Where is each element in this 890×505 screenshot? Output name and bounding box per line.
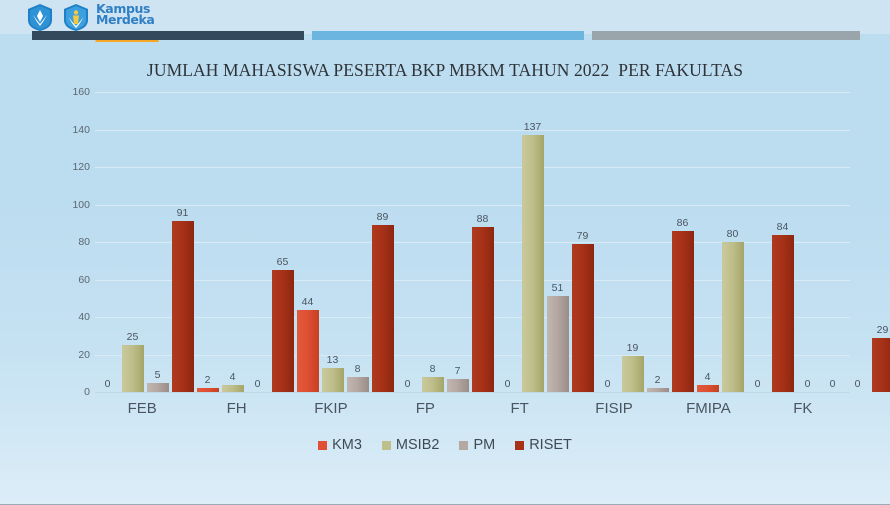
bar[interactable]: 80 <box>722 242 744 392</box>
bar-value-label: 13 <box>327 354 339 366</box>
bar-value-label: 0 <box>855 378 861 390</box>
bar-slot[interactable]: 0 <box>247 92 269 392</box>
chart-legend: KM3MSIB2PMRISET <box>0 437 890 453</box>
bar-slot[interactable]: 84 <box>772 92 794 392</box>
y-axis-tick-label: 0 <box>50 386 90 398</box>
bar-slot[interactable]: 91 <box>172 92 194 392</box>
legend-label: PM <box>473 437 495 453</box>
x-axis-category-label: FMIPA <box>661 394 755 417</box>
plot-area: 0255912406544138890878801375179019286480… <box>95 92 850 392</box>
x-axis-category-label: FEB <box>95 394 189 417</box>
bar-group: 480084 <box>695 92 795 392</box>
bar-slot[interactable]: 0 <box>822 92 844 392</box>
bar-value-label: 80 <box>727 228 739 240</box>
bar-slot[interactable]: 25 <box>122 92 144 392</box>
bar-group: 01375179 <box>495 92 595 392</box>
bar[interactable]: 89 <box>372 225 394 392</box>
legend-swatch-icon <box>515 441 524 450</box>
bar-value-label: 86 <box>677 217 689 229</box>
bar-slot[interactable]: 8 <box>422 92 444 392</box>
x-axis: FEBFHFKIPFPFTFISIPFMIPAFK <box>95 394 850 417</box>
bar-value-label: 0 <box>105 378 111 390</box>
bar-slot[interactable]: 44 <box>297 92 319 392</box>
bar-slot[interactable]: 65 <box>272 92 294 392</box>
y-axis-tick-label: 60 <box>50 274 90 286</box>
progress-bar-dark <box>32 31 304 40</box>
y-axis-tick-label: 160 <box>50 86 90 98</box>
bar-slot[interactable]: 86 <box>672 92 694 392</box>
bar-slot[interactable]: 13 <box>322 92 344 392</box>
slide-canvas: Kampus Merdeka INDONESIA JAYA JUMLAH MAH… <box>0 0 890 505</box>
x-axis-category-label: FKIP <box>284 394 378 417</box>
bar-slot[interactable]: 8 <box>347 92 369 392</box>
bar-value-label: 29 <box>877 324 889 336</box>
bar-value-label: 65 <box>277 256 289 268</box>
bar-value-label: 137 <box>524 121 542 133</box>
bar-slot[interactable]: 7 <box>447 92 469 392</box>
bar-value-label: 0 <box>830 378 836 390</box>
bar-value-label: 51 <box>552 282 564 294</box>
bar-value-label: 4 <box>230 371 236 383</box>
bar-slot[interactable]: 4 <box>222 92 244 392</box>
bar-value-label: 0 <box>755 378 761 390</box>
bar-value-label: 19 <box>627 342 639 354</box>
bar-value-label: 5 <box>155 369 161 381</box>
bar-value-label: 7 <box>455 365 461 377</box>
bar[interactable]: 79 <box>572 244 594 392</box>
bar-slot[interactable]: 2 <box>197 92 219 392</box>
legend-item[interactable]: PM <box>459 437 495 453</box>
chart-area: 020406080100120140160 025591240654413889… <box>40 92 850 432</box>
bar-group: 00029 <box>795 92 890 392</box>
bar-value-label: 84 <box>777 221 789 233</box>
bar-value-label: 8 <box>430 363 436 375</box>
bar[interactable]: 8 <box>422 377 444 392</box>
y-axis-tick-label: 80 <box>50 236 90 248</box>
x-axis-category-label: FK <box>756 394 850 417</box>
bar-slot[interactable]: 29 <box>872 92 890 392</box>
x-axis-category-label: FH <box>189 394 283 417</box>
bar-value-label: 0 <box>805 378 811 390</box>
bar-slot[interactable]: 0 <box>597 92 619 392</box>
bar-value-label: 0 <box>605 378 611 390</box>
bar[interactable]: 2 <box>647 388 669 392</box>
bar-slot[interactable]: 80 <box>722 92 744 392</box>
bar-value-label: 0 <box>255 378 261 390</box>
bar[interactable]: 8 <box>347 377 369 392</box>
progress-bar-gray <box>592 31 860 40</box>
bar-slot[interactable]: 0 <box>797 92 819 392</box>
bar-group: 24065 <box>195 92 295 392</box>
bar-group: 4413889 <box>295 92 395 392</box>
y-axis-tick-label: 20 <box>50 349 90 361</box>
chart-title: JUMLAH MAHASISWA PESERTA BKP MBKM TAHUN … <box>0 60 890 81</box>
x-axis-category-label: FISIP <box>567 394 661 417</box>
bar-group: 08788 <box>395 92 495 392</box>
legend-label: KM3 <box>332 437 362 453</box>
bar-value-label: 91 <box>177 207 189 219</box>
bar-value-label: 79 <box>577 230 589 242</box>
bar[interactable]: 44 <box>297 310 319 393</box>
bar-group: 019286 <box>595 92 695 392</box>
bar[interactable]: 7 <box>447 379 469 392</box>
brand-line-2: Merdeka <box>96 14 164 27</box>
legend-label: RISET <box>529 437 572 453</box>
bar-group: 025591 <box>95 92 195 392</box>
bar-groups: 0255912406544138890878801375179019286480… <box>95 92 850 392</box>
bar-slot[interactable]: 19 <box>622 92 644 392</box>
bar[interactable]: 4 <box>697 385 719 393</box>
bar-value-label: 88 <box>477 213 489 225</box>
bar-value-label: 8 <box>355 363 361 375</box>
y-axis-tick-label: 100 <box>50 199 90 211</box>
legend-swatch-icon <box>459 441 468 450</box>
kemdikbud-logo-icon <box>26 3 54 32</box>
bar-slot[interactable]: 88 <box>472 92 494 392</box>
bar-slot[interactable]: 5 <box>147 92 169 392</box>
legend-swatch-icon <box>382 441 391 450</box>
bar-slot[interactable]: 89 <box>372 92 394 392</box>
bar-value-label: 25 <box>127 331 139 343</box>
y-axis-tick-label: 120 <box>50 161 90 173</box>
y-axis-tick-label: 140 <box>50 124 90 136</box>
legend-label: MSIB2 <box>396 437 440 453</box>
legend-item[interactable]: MSIB2 <box>382 437 440 453</box>
x-axis-category-label: FT <box>473 394 567 417</box>
bar-slot[interactable]: 137 <box>522 92 544 392</box>
bar-value-label: 2 <box>205 374 211 386</box>
bar[interactable]: 25 <box>122 345 144 392</box>
legend-item[interactable]: RISET <box>515 437 572 453</box>
bar[interactable]: 91 <box>172 221 194 392</box>
bar-value-label: 44 <box>302 296 314 308</box>
x-axis-category-label: FP <box>378 394 472 417</box>
bar-slot[interactable]: 51 <box>547 92 569 392</box>
bar-value-label: 0 <box>405 378 411 390</box>
y-axis: 020406080100120140160 <box>40 92 90 392</box>
bar[interactable]: 88 <box>472 227 494 392</box>
bar-value-label: 89 <box>377 211 389 223</box>
bar-slot[interactable]: 0 <box>847 92 869 392</box>
bar[interactable]: 19 <box>622 356 644 392</box>
bar[interactable]: 29 <box>872 338 890 392</box>
kampus-merdeka-shield-icon <box>62 3 90 32</box>
bar[interactable]: 86 <box>672 231 694 392</box>
bar-slot[interactable]: 0 <box>97 92 119 392</box>
bar-value-label: 2 <box>655 374 661 386</box>
header-logo-bar: Kampus Merdeka INDONESIA JAYA <box>0 0 890 34</box>
bar-slot[interactable]: 0 <box>397 92 419 392</box>
bar-slot[interactable]: 2 <box>647 92 669 392</box>
y-axis-tick-label: 40 <box>50 311 90 323</box>
bar-value-label: 0 <box>505 378 511 390</box>
bar-value-label: 4 <box>705 371 711 383</box>
bar-slot[interactable]: 0 <box>747 92 769 392</box>
gridline <box>95 392 850 393</box>
legend-swatch-icon <box>318 441 327 450</box>
bar[interactable]: 137 <box>522 135 544 392</box>
progress-bar-blue <box>312 31 584 40</box>
legend-item[interactable]: KM3 <box>318 437 362 453</box>
bar[interactable]: 4 <box>222 385 244 393</box>
bar-slot[interactable]: 0 <box>497 92 519 392</box>
bar[interactable]: 84 <box>772 235 794 393</box>
bar[interactable]: 13 <box>322 368 344 392</box>
bar[interactable]: 65 <box>272 270 294 392</box>
bar-slot[interactable]: 4 <box>697 92 719 392</box>
kampus-merdeka-wordmark: Kampus Merdeka INDONESIA JAYA <box>96 3 164 31</box>
bar-slot[interactable]: 79 <box>572 92 594 392</box>
bar[interactable]: 2 <box>197 388 219 392</box>
bar[interactable]: 5 <box>147 383 169 392</box>
bar[interactable]: 51 <box>547 296 569 392</box>
